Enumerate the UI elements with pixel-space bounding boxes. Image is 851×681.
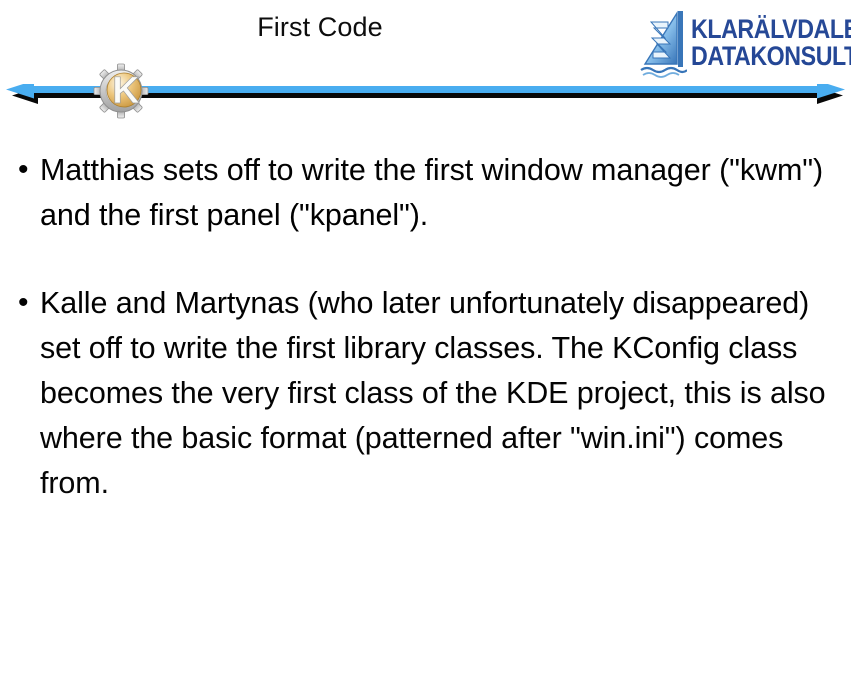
page-title: First Code bbox=[0, 12, 640, 43]
list-item: • Kalle and Martynas (who later unfortun… bbox=[14, 281, 838, 506]
bullet-text: Kalle and Martynas (who later unfortunat… bbox=[40, 281, 838, 506]
slide-canvas: First Code KLARÄLVDALENS DATAKONSULT A bbox=[0, 0, 851, 681]
kdab-logo: KLARÄLVDALENS DATAKONSULT AB bbox=[639, 6, 843, 80]
kde-logo-letter: K bbox=[112, 70, 140, 112]
bullet-marker: • bbox=[14, 281, 40, 325]
bullet-marker: • bbox=[14, 148, 40, 192]
list-item: • Matthias sets off to write the first w… bbox=[14, 148, 838, 238]
slide-body: • Matthias sets off to write the first w… bbox=[14, 148, 838, 506]
kde-gear-icon: K bbox=[88, 60, 160, 122]
sail-lightning-icon bbox=[639, 8, 687, 78]
bullet-text: Matthias sets off to write the first win… bbox=[40, 148, 838, 238]
kdab-line-2: DATAKONSULT AB bbox=[691, 43, 851, 70]
kdab-line-1: KLARÄLVDALENS bbox=[691, 16, 851, 43]
kdab-logo-wordmark: KLARÄLVDALENS DATAKONSULT AB bbox=[691, 16, 851, 70]
